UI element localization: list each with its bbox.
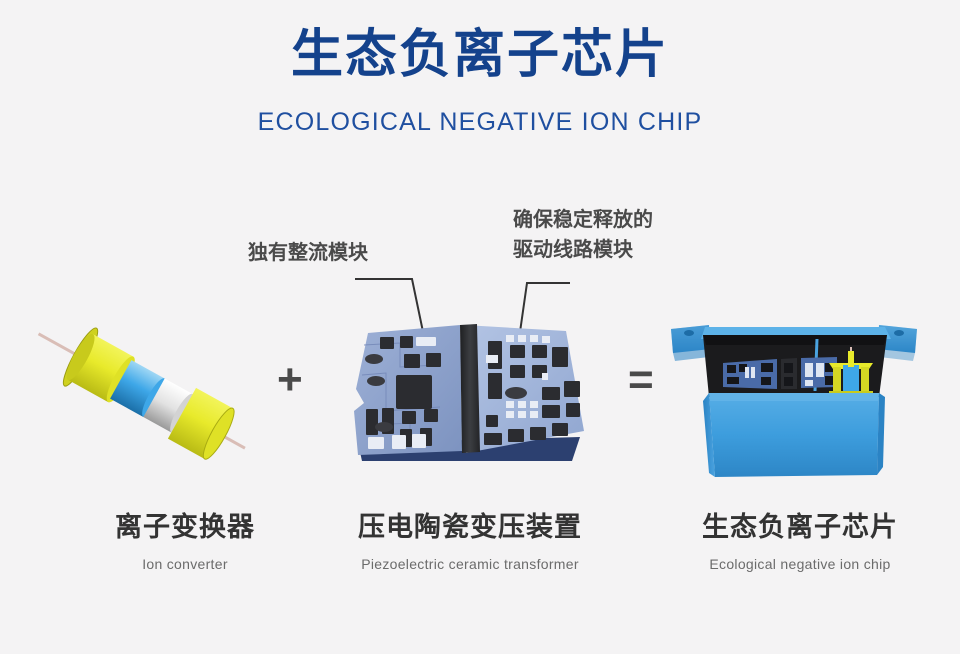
caption-ecological-chip: 生态负离子芯片 Ecological negative ion chip	[650, 505, 950, 572]
caption-ecological-chip-cn: 生态负离子芯片	[650, 505, 950, 544]
product-image-ion-converter	[10, 295, 270, 485]
callout-drive-circuit-module: 确保稳定释放的 驱动线路模块	[513, 205, 653, 265]
caption-piezo-transformer-cn: 压电陶瓷变压装置	[320, 505, 620, 544]
page-title: 生态负离子芯片	[0, 26, 960, 86]
product-image-ecological-chip	[665, 305, 925, 485]
caption-piezo-transformer-en: Piezoelectric ceramic transformer	[320, 556, 620, 572]
callout-drive-line1: 确保稳定释放的	[513, 205, 653, 235]
operator-equals: =	[628, 358, 654, 402]
caption-ion-converter: 离子变换器 Ion converter	[35, 505, 335, 572]
caption-piezo-transformer: 压电陶瓷变压装置 Piezoelectric ceramic transform…	[320, 505, 620, 572]
callout-drive-line2: 驱动线路模块	[513, 235, 653, 265]
page-subtitle: ECOLOGICAL NEGATIVE ION CHIP	[0, 108, 960, 137]
callout-rectifier-line1: 独有整流模块	[248, 238, 368, 268]
caption-ion-converter-cn: 离子变换器	[35, 505, 335, 544]
callout-rectifier-module: 独有整流模块	[248, 238, 368, 268]
infographic-canvas: 生态负离子芯片 ECOLOGICAL NEGATIVE ION CHIP 独有整…	[0, 0, 960, 654]
product-image-piezoelectric-transformer	[340, 315, 600, 485]
operator-plus: +	[277, 358, 303, 402]
caption-ecological-chip-en: Ecological negative ion chip	[650, 556, 950, 572]
caption-ion-converter-en: Ion converter	[35, 556, 335, 572]
